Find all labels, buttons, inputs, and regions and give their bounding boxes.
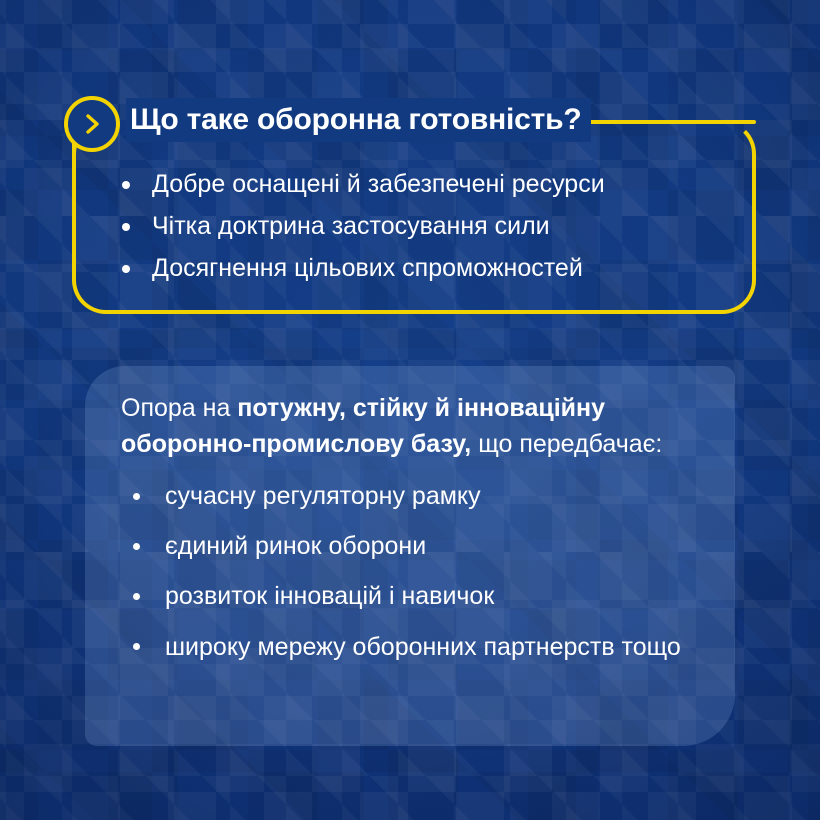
- card-lead-prefix: Опора на: [121, 394, 237, 422]
- supporting-card: Опора на потужну, стійку й інноваційну о…: [85, 366, 735, 746]
- chevron-right-circle-icon: [64, 96, 120, 152]
- list-item: Добре оснащені й забезпечені ресурси: [118, 163, 605, 205]
- primary-bullet-list: Добре оснащені й забезпечені ресурси Чіт…: [118, 163, 605, 289]
- list-item: розвиток інновацій і навичок: [121, 580, 705, 612]
- list-item: сучасну регуляторну рамку: [121, 480, 705, 512]
- list-item: єдиний ринок оборони: [121, 530, 705, 562]
- list-item: широку мережу оборонних партнерств тощо: [121, 630, 705, 664]
- page-title: Що таке оборонна готовність?: [126, 98, 591, 142]
- card-lead-paragraph: Опора на потужну, стійку й інноваційну о…: [121, 390, 705, 462]
- list-item: Досягнення цільових спроможностей: [118, 247, 605, 289]
- list-item: Чітка доктрина застосування сили: [118, 205, 605, 247]
- supporting-card-body: Опора на потужну, стійку й інноваційну о…: [85, 366, 735, 664]
- card-bullet-list: сучасну регуляторну рамку єдиний ринок о…: [121, 480, 705, 664]
- slide-root: Що таке оборонна готовність? Добре оснащ…: [0, 0, 820, 820]
- slide-content: Що таке оборонна готовність? Добре оснащ…: [0, 0, 820, 820]
- card-lead-suffix: що передбачає:: [471, 430, 662, 458]
